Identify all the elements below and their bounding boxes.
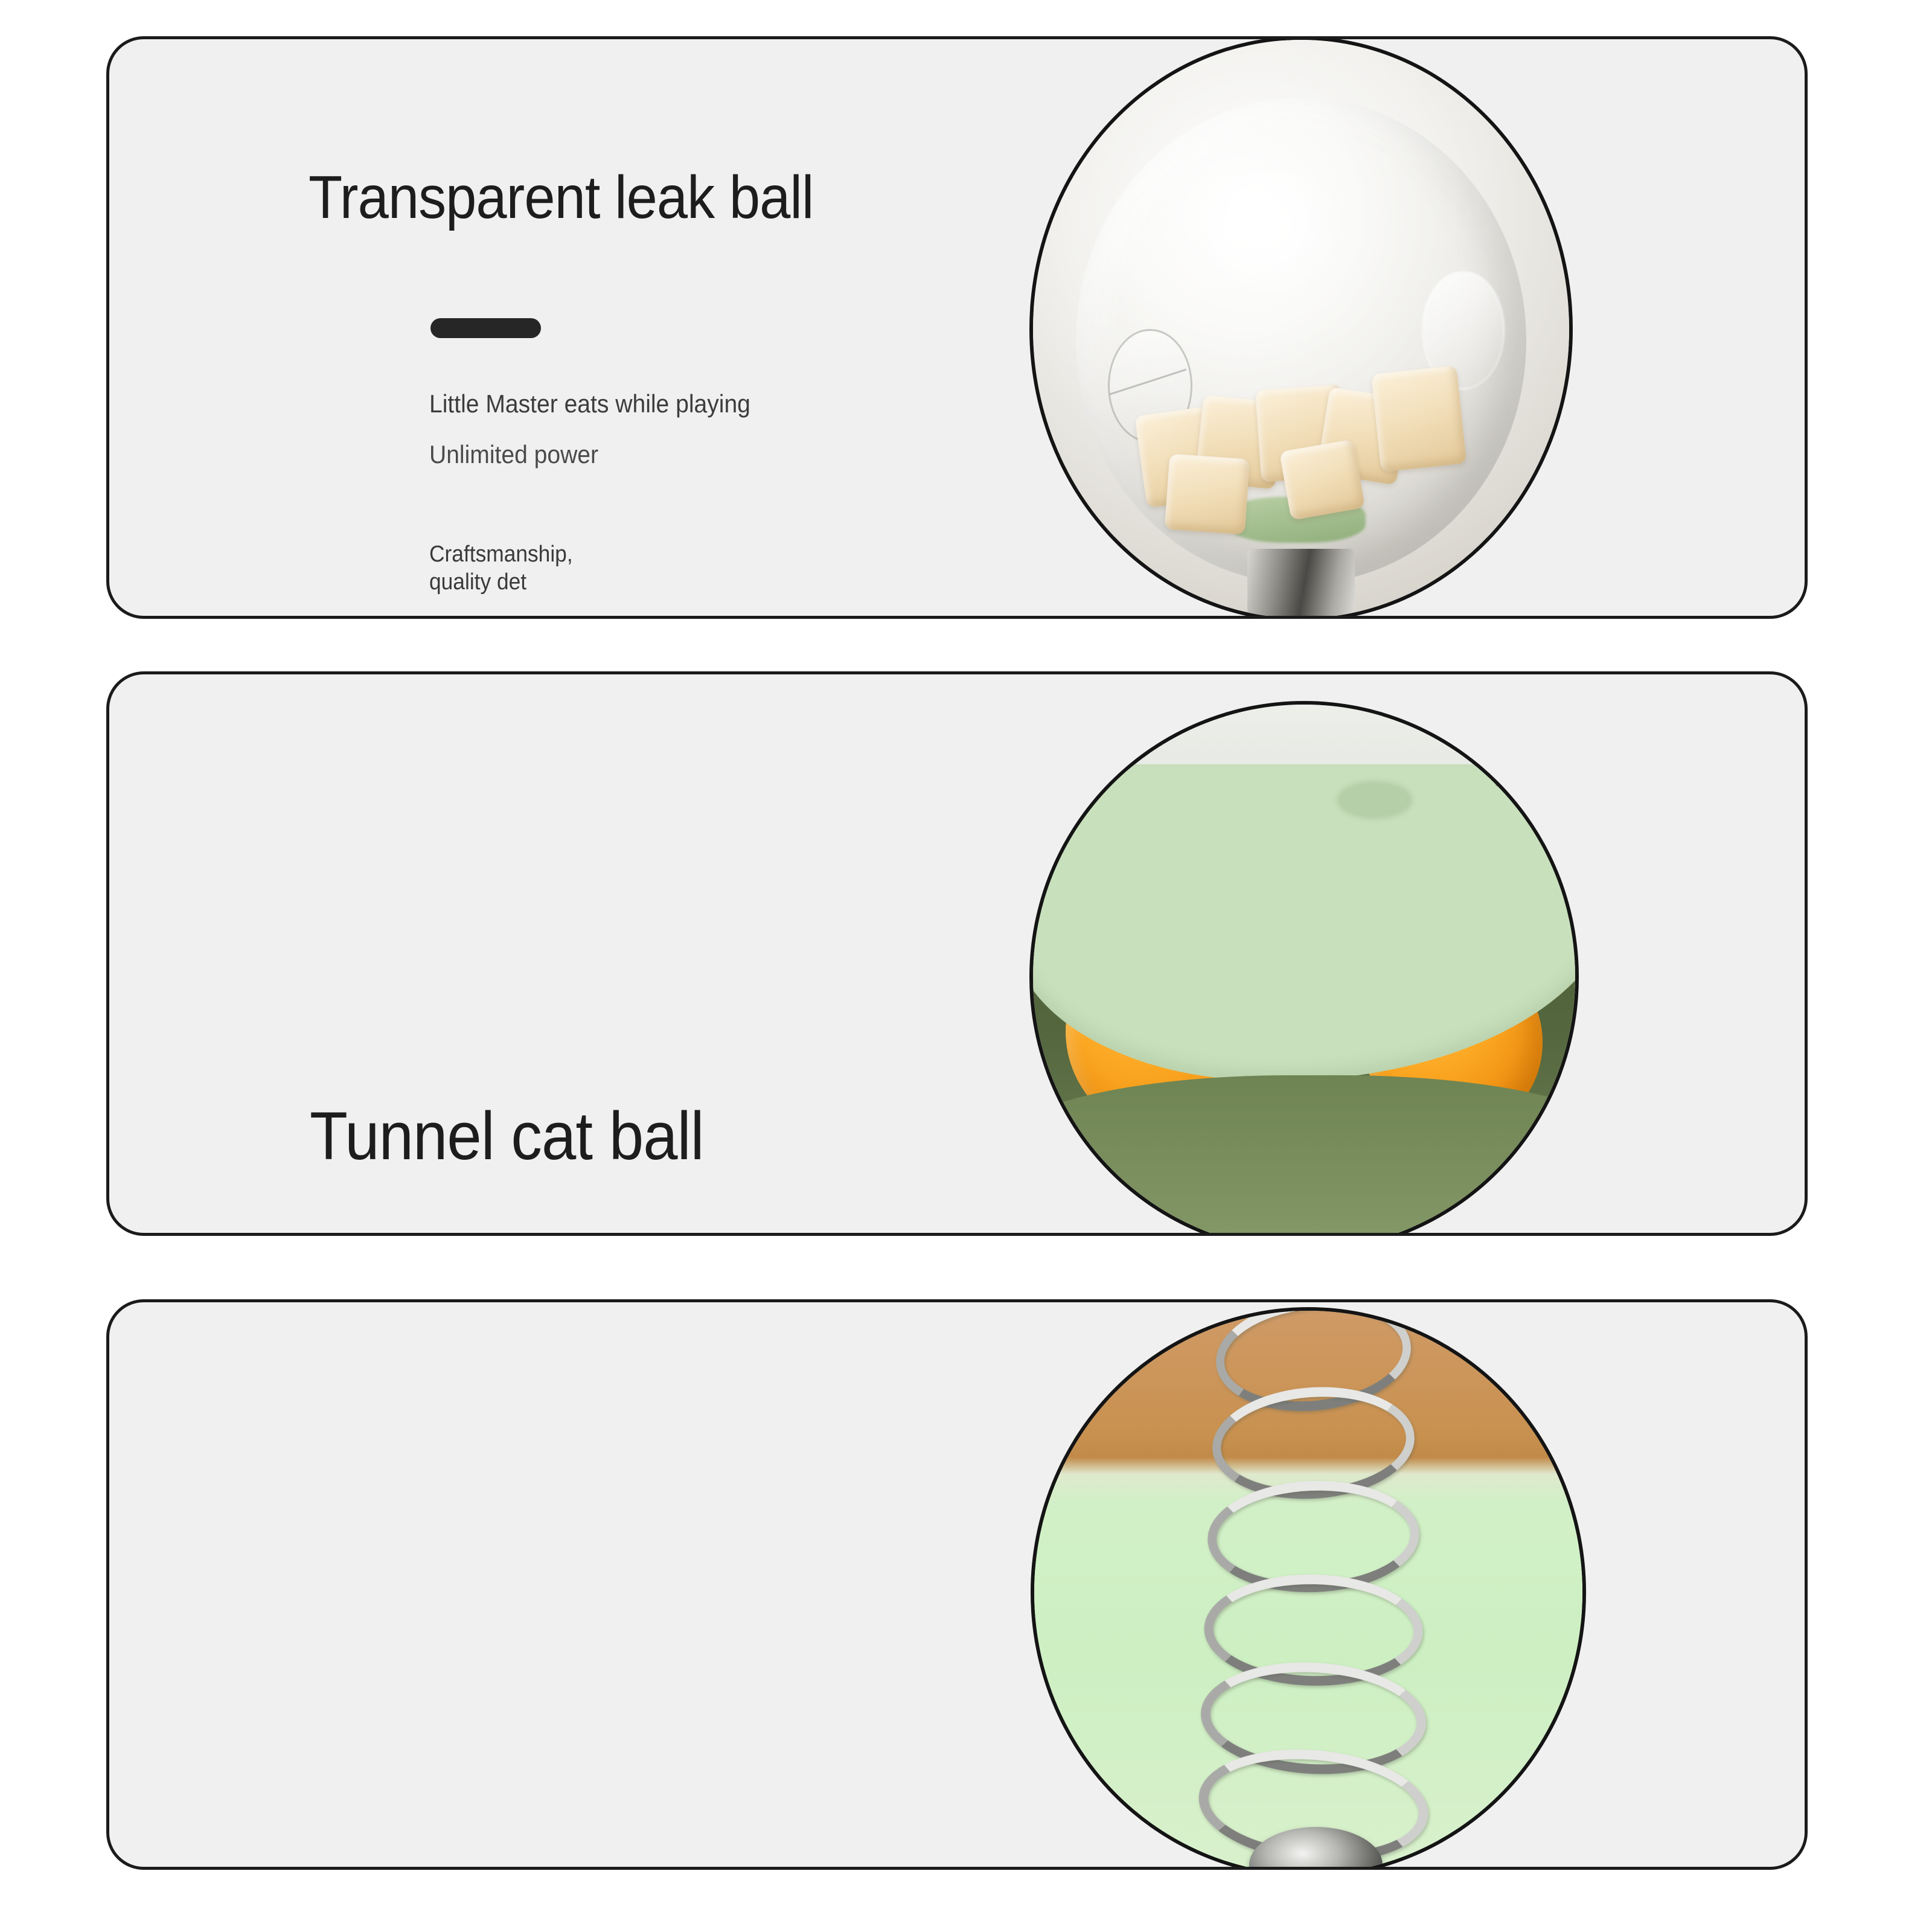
treat-cube-shape bbox=[1279, 439, 1365, 520]
spring-scene bbox=[1034, 1311, 1582, 1870]
mini-spring-shape bbox=[1495, 732, 1515, 787]
product-feature-page: Transparent leak ball Little Master eats… bbox=[0, 0, 1932, 1932]
coil-spring-group bbox=[1198, 1311, 1428, 1870]
treat-ball-scene bbox=[1033, 40, 1569, 618]
page-title: Transparent leak ball bbox=[309, 163, 813, 232]
tunnel-top-shell-shape bbox=[1033, 764, 1575, 1081]
metal-base-shape bbox=[1247, 549, 1355, 618]
treat-cube-shape bbox=[1165, 453, 1250, 534]
product-image-transparent-leak-ball bbox=[1029, 36, 1573, 619]
feature-card-transparent-leak-ball[interactable]: Transparent leak ball Little Master eats… bbox=[106, 36, 1808, 619]
feature-card-tunnel-cat-ball[interactable]: Tunnel cat ball The tunnel contains two … bbox=[106, 671, 1808, 1236]
product-image-high-quality-spring bbox=[1031, 1307, 1586, 1870]
footnote-text: Craftsmanship, quality det bbox=[429, 540, 573, 597]
feature-text-column: Tunnel cat ball The tunnel contains two … bbox=[109, 674, 1051, 1233]
tunnel-scene bbox=[1033, 705, 1575, 1236]
feature-spec-block: Little Master eats while playing Unlimit… bbox=[429, 391, 924, 469]
feature-text-column: High quality spring High quality fine st… bbox=[109, 1302, 1051, 1867]
product-image-tunnel-cat-ball bbox=[1029, 701, 1579, 1236]
treat-cube-shape bbox=[1371, 365, 1467, 472]
feature-card-high-quality-spring[interactable]: High quality spring High quality fine st… bbox=[106, 1299, 1808, 1870]
page-title: Tunnel cat ball bbox=[310, 1097, 704, 1175]
spec-primary-text: Little Master eats while playing bbox=[429, 391, 890, 418]
feature-text-column: Transparent leak ball Little Master eats… bbox=[109, 39, 1051, 616]
divider-pill-icon bbox=[430, 318, 541, 338]
spec-secondary-text: Unlimited power bbox=[429, 441, 890, 469]
glass-highlight-shape bbox=[1194, 167, 1354, 306]
shell-dimple-shape bbox=[1337, 781, 1413, 819]
tunnel-floor-shape bbox=[1033, 1075, 1575, 1236]
